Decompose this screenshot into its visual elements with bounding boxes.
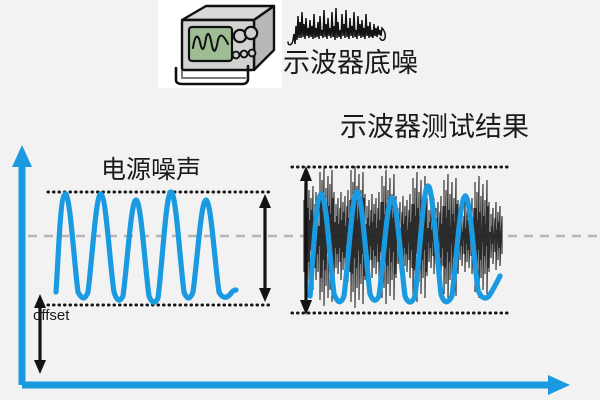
- offset-double-arrow-icon: [34, 294, 46, 374]
- left-amplitude-double-arrow-icon: [259, 194, 271, 302]
- x-axis: [22, 375, 570, 395]
- plot-area: [0, 0, 600, 400]
- diagram-canvas: 示波器底噪 示波器测试结果 电源噪声 offset: [0, 0, 600, 400]
- y-axis: [12, 145, 32, 385]
- power-supply-noise-sine: [56, 192, 236, 302]
